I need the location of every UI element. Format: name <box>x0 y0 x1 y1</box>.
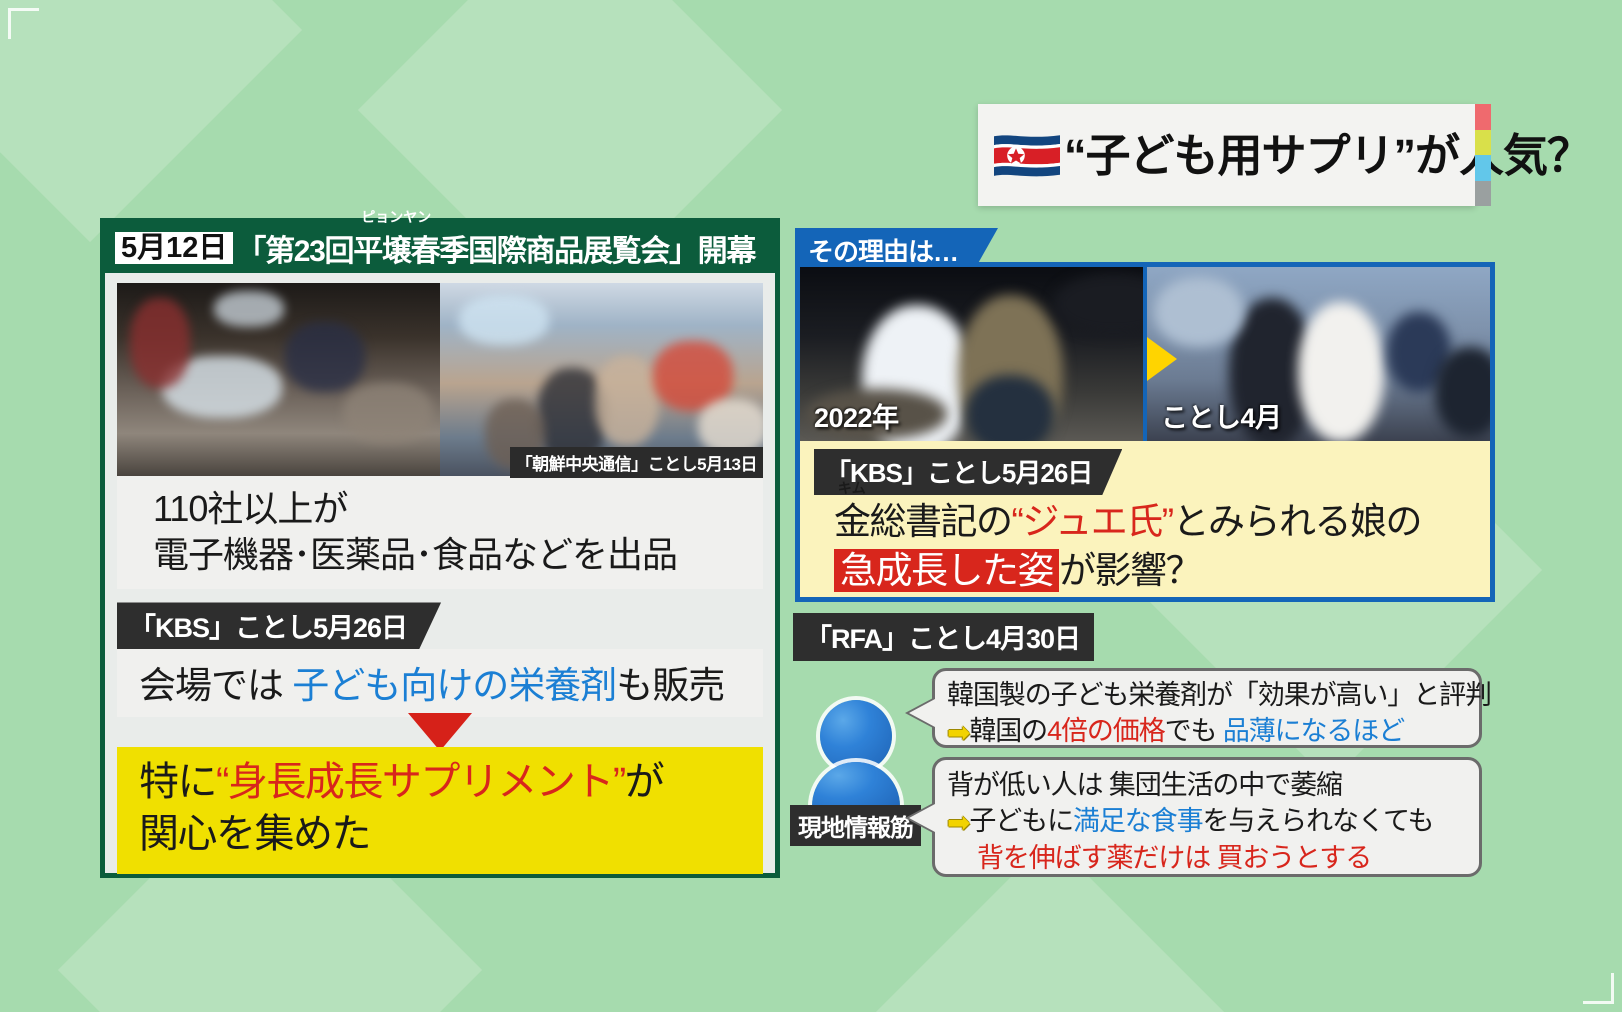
bubble2-line-2: ➡子どもに満足な食事を与えられなくても <box>947 804 1479 841</box>
caption-line-2: 電子機器･医薬品･食品などを出品 <box>153 532 763 578</box>
yellow-arrow-icon: ➡ <box>947 804 969 841</box>
frame-corner-bottom-right <box>1583 973 1614 1004</box>
supplement-name: “身長成長サプリメント” <box>216 760 625 804</box>
kim-daughter-photos: 2022年 ことし4月 <box>800 267 1490 441</box>
rapid-growth-highlight: 急成長した姿 <box>834 549 1059 592</box>
right-triangle-icon <box>1147 337 1177 381</box>
statement-line-2: 急成長した姿が影響？ <box>834 548 1490 593</box>
bubble1-line-2: ➡韓国の4倍の価格でも 品薄になるほど <box>947 714 1479 751</box>
ruby-kim: キム <box>838 480 866 497</box>
left-kbs-statement: 会場では 子ども向けの栄養剤も販売 <box>117 649 763 717</box>
program-title-bar: “子ども用サプリ”が人気？ <box>978 104 1475 206</box>
photo-label-this-april: ことし4月 <box>1161 396 1282 435</box>
photo-source-credit: 「朝鮮中央通信」ことし5月13日 <box>510 447 763 478</box>
right-top-panel: 2022年 ことし4月 「KBS」ことし5月26日 キム金総書記の“ジュエ氏”と… <box>795 262 1495 602</box>
yellow-arrow-icon: ➡ <box>947 714 969 751</box>
right-panel-statement: キム金総書記の“ジュエ氏”とみられる娘の 急成長した姿が影響？ <box>800 495 1490 593</box>
frame-corner-top-left <box>8 8 39 39</box>
bubble2-line-1: 背が低い人は 集団生活の中で萎縮 <box>947 768 1479 804</box>
title-color-strips <box>1475 104 1491 206</box>
down-triangle-icon <box>408 713 472 751</box>
bubble2-line-3: 背を伸ばす薬だけは 買おうとする <box>947 841 1479 877</box>
caption-line-1: 110社以上が <box>153 486 763 532</box>
person-silhouette-icon <box>812 700 900 816</box>
event-date-badge: 5月12日 <box>115 232 233 264</box>
speech-bubble-1: 韓国製の子ども栄養剤が「効果が高い」と評判 ➡韓国の4倍の価格でも 品薄になるほ… <box>932 668 1482 748</box>
north-korea-flag-icon <box>994 133 1060 177</box>
rfa-source-tag: 「RFA」ことし4月30日 <box>793 613 1094 661</box>
statement-line-1: キム金総書記の“ジュエ氏”とみられる娘の <box>834 499 1490 544</box>
source-person-label: 現地情報筋 <box>790 805 921 846</box>
bubble1-line-1: 韓国製の子ども栄養剤が「効果が高い」と評判 <box>947 678 1479 714</box>
photo-2022: 2022年 <box>800 267 1143 441</box>
left-kbs-source-tag: 「KBS」ことし5月26日 <box>117 602 441 649</box>
yellow-callout-line-2: 関心を集めた <box>139 809 763 860</box>
left-panel: 5月12日 「第23回平ピョンヤン壌春季国際商品展覧会」開幕 「朝鮮中央通信」こ… <box>100 218 780 878</box>
program-title-text: “子ども用サプリ”が人気？ <box>1064 133 1591 178</box>
ju-ae-name: “ジュエ氏” <box>1012 501 1173 542</box>
photo-label-2022: 2022年 <box>814 396 899 435</box>
left-yellow-callout: 特に“身長成長サプリメント”が 関心を集めた <box>117 747 763 873</box>
photo-this-april: ことし4月 <box>1143 267 1490 441</box>
left-panel-header-text: 「第23回平ピョンヤン壌春季国際商品展覧会」開幕 <box>236 226 755 270</box>
yellow-callout-line-1: 特に“身長成長サプリメント”が <box>139 757 763 808</box>
ruby-pyongyang: ピョンヤン <box>361 207 431 227</box>
kbs-statement-highlight: 子ども向けの栄養剤 <box>292 665 616 706</box>
speech-bubble-2: 背が低い人は 集団生活の中で萎縮 ➡子どもに満足な食事を与えられなくても 背を伸… <box>932 757 1482 877</box>
left-panel-caption: 「朝鮮中央通信」ことし5月13日 110社以上が 電子機器･医薬品･食品などを出… <box>117 476 763 589</box>
left-panel-header: 5月12日 「第23回平ピョンヤン壌春季国際商品展覧会」開幕 <box>105 223 775 273</box>
